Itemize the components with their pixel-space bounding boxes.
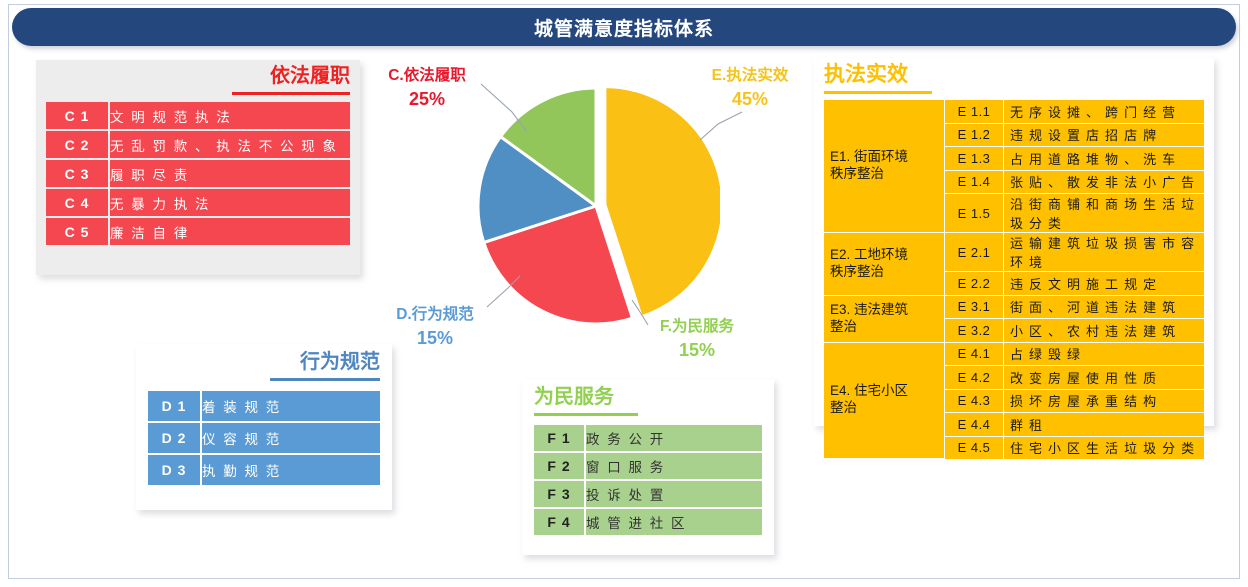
row-label: 违 反 文 明 施 工 规 定 (1004, 272, 1204, 296)
row-label: 小 区 、 农 村 违 法 建 筑 (1004, 319, 1204, 343)
table-row[interactable]: C 3 履 职 尽 责 (46, 160, 350, 189)
pie-label-c-percent: 25% (368, 87, 486, 111)
panel-d-heading: 行为规范 (270, 352, 380, 376)
row-label: 张 贴 、 散 发 非 法 小 广 告 (1004, 171, 1204, 195)
table-row[interactable]: E2. 工地环境 秩序整治 E 2.1 运 输 建 筑 垃 圾 损 害 市 容 … (824, 233, 1204, 272)
row-code: E 4.4 (945, 413, 1004, 437)
panel-f-heading: 为民服务 (534, 387, 638, 411)
panel-f-heading-rule (534, 413, 638, 416)
row-code: F 1 (534, 425, 586, 453)
row-code: E 3.2 (945, 319, 1004, 343)
row-code: E 4.1 (945, 343, 1004, 367)
row-label: 政 务 公 开 (586, 425, 762, 453)
row-label: 沿 街 商 铺 和 商 场 生 活 垃 圾 分 类 (1004, 194, 1204, 233)
row-code: E 1.4 (945, 171, 1004, 195)
row-label: 损 坏 房 屋 承 重 结 构 (1004, 390, 1204, 414)
pie-label-e: E.执法实效 45% (690, 66, 810, 111)
row-code: D 3 (148, 455, 202, 485)
panel-e-heading-rule (824, 91, 932, 94)
group-title-line1: E3. 违法建筑 (830, 302, 944, 319)
row-code: E 4.5 (945, 437, 1004, 460)
pie-label-e-name: E.执法实效 (712, 67, 789, 84)
table-row[interactable]: F 4 城 管 进 社 区 (534, 509, 762, 535)
panel-d-heading-rule (270, 378, 380, 381)
panel-f-header: 为民服务 (534, 387, 638, 416)
table-row[interactable]: F 2 窗 口 服 务 (534, 453, 762, 481)
row-code: E 1.1 (945, 100, 1004, 124)
table-row[interactable]: E3. 违法建筑 整治 E 3.1 街 面 、 河 道 违 法 建 筑 (824, 296, 1204, 320)
pie-label-e-percent: 45% (690, 87, 810, 111)
group-label-e1: E1. 街面环境 秩序整治 (824, 100, 945, 233)
panel-lawful-performance: 依法履职 C 1 文 明 规 范 执 法 C 2 无 乱 罚 款 、 执 法 不… (36, 60, 360, 275)
panel-c-heading: 依法履职 (232, 66, 350, 90)
row-label: 违 规 设 置 店 招 店 牌 (1004, 124, 1204, 148)
row-code: D 2 (148, 423, 202, 455)
table-f: F 1 政 务 公 开 F 2 窗 口 服 务 F 3 投 诉 处 置 F 4 … (534, 425, 762, 535)
pie-label-f: F.为民服务 15% (638, 317, 756, 362)
row-label: 住 宅 小 区 生 活 垃 圾 分 类 (1004, 437, 1204, 460)
pie-chart (472, 82, 720, 330)
row-label: 无 乱 罚 款 、 执 法 不 公 现 象 (110, 131, 350, 160)
group-title-line2: 整治 (830, 319, 944, 336)
pie-label-d-percent: 15% (376, 326, 494, 350)
row-code: E 4.2 (945, 366, 1004, 390)
row-code: E 1.5 (945, 194, 1004, 233)
row-code: E 2.2 (945, 272, 1004, 296)
row-label: 街 面 、 河 道 违 法 建 筑 (1004, 296, 1204, 320)
row-label: 改 变 房 屋 使 用 性 质 (1004, 366, 1204, 390)
group-label-e4: E4. 住宅小区 整治 (824, 343, 945, 460)
table-row[interactable]: E1. 街面环境 秩序整治 E 1.1 无 序 设 摊 、 跨 门 经 营 (824, 100, 1204, 124)
table-row[interactable]: D 2 仪 容 规 范 (148, 423, 380, 455)
row-label: 廉 洁 自 律 (110, 218, 350, 245)
row-label: 占 绿 毁 绿 (1004, 343, 1204, 367)
row-label: 群 租 (1004, 413, 1204, 437)
group-label-e2: E2. 工地环境 秩序整治 (824, 233, 945, 296)
row-code: E 2.1 (945, 233, 1004, 272)
group-title-line2: 秩序整治 (830, 166, 944, 183)
group-label-e3: E3. 违法建筑 整治 (824, 296, 945, 343)
page-title: 城管满意度指标体系 (534, 14, 714, 41)
row-code: C 2 (46, 131, 110, 160)
row-label: 运 输 建 筑 垃 圾 损 害 市 容 环 境 (1004, 233, 1204, 272)
row-code: C 4 (46, 189, 110, 218)
row-code: D 1 (148, 391, 202, 423)
row-label: 投 诉 处 置 (586, 481, 762, 509)
pie-label-c-name: C.依法履职 (388, 67, 466, 84)
row-code: F 3 (534, 481, 586, 509)
row-label: 无 暴 力 执 法 (110, 189, 350, 218)
table-row[interactable]: C 2 无 乱 罚 款 、 执 法 不 公 现 象 (46, 131, 350, 160)
pie-label-d-name: D.行为规范 (396, 306, 474, 323)
panel-e-header: 执法实效 (824, 64, 932, 94)
group-title-line1: E2. 工地环境 (830, 247, 944, 264)
row-label: 城 管 进 社 区 (586, 509, 762, 535)
row-code: C 3 (46, 160, 110, 189)
table-d: D 1 着 装 规 范 D 2 仪 容 规 范 D 3 执 勤 规 范 (148, 391, 380, 485)
table-row[interactable]: C 4 无 暴 力 执 法 (46, 189, 350, 218)
row-code: E 4.3 (945, 390, 1004, 414)
row-label: 着 装 规 范 (202, 391, 380, 423)
group-title-line1: E4. 住宅小区 (830, 383, 944, 400)
pie-label-f-name: F.为民服务 (660, 318, 734, 335)
row-code: C 5 (46, 218, 110, 245)
panel-d-header: 行为规范 (270, 352, 380, 381)
panel-c-header: 依法履职 (232, 66, 350, 95)
table-row[interactable]: D 1 着 装 规 范 (148, 391, 380, 423)
table-row[interactable]: D 3 执 勤 规 范 (148, 455, 380, 485)
row-label: 履 职 尽 责 (110, 160, 350, 189)
panel-e-heading: 执法实效 (824, 64, 932, 89)
pie-label-c: C.依法履职 25% (368, 66, 486, 111)
table-row[interactable]: F 1 政 务 公 开 (534, 425, 762, 453)
table-row[interactable]: C 1 文 明 规 范 执 法 (46, 102, 350, 131)
row-label: 仪 容 规 范 (202, 423, 380, 455)
panel-enforcement-effectiveness: 执法实效 E1. 街面环境 秩序整治 E 1.1 无 序 设 摊 、 跨 门 经… (814, 58, 1214, 426)
row-code: E 3.1 (945, 296, 1004, 320)
row-code: C 1 (46, 102, 110, 131)
row-code: F 2 (534, 453, 586, 481)
table-e: E1. 街面环境 秩序整治 E 1.1 无 序 设 摊 、 跨 门 经 营 E … (824, 100, 1204, 459)
table-row[interactable]: F 3 投 诉 处 置 (534, 481, 762, 509)
table-c: C 1 文 明 规 范 执 法 C 2 无 乱 罚 款 、 执 法 不 公 现 … (46, 102, 350, 245)
page-title-banner: 城管满意度指标体系 (12, 8, 1236, 46)
group-title-line2: 秩序整治 (830, 264, 944, 281)
row-label: 文 明 规 范 执 法 (110, 102, 350, 131)
row-code: E 1.3 (945, 147, 1004, 171)
panel-behavior-norms: 行为规范 D 1 着 装 规 范 D 2 仪 容 规 范 D 3 执 勤 规 范 (136, 344, 392, 510)
table-row[interactable]: C 5 廉 洁 自 律 (46, 218, 350, 245)
row-code: E 1.2 (945, 124, 1004, 148)
pie-label-f-percent: 15% (638, 338, 756, 362)
group-title-line1: E1. 街面环境 (830, 149, 944, 166)
pie-label-d: D.行为规范 15% (376, 305, 494, 350)
row-label: 占 用 道 路 堆 物 、 洗 车 (1004, 147, 1204, 171)
group-title-line2: 整治 (830, 400, 944, 417)
row-label: 执 勤 规 范 (202, 455, 380, 485)
panel-public-service: 为民服务 F 1 政 务 公 开 F 2 窗 口 服 务 F 3 投 诉 处 置… (522, 379, 774, 555)
row-code: F 4 (534, 509, 586, 535)
panel-c-heading-rule (232, 92, 350, 95)
pie-chart-svg (472, 82, 720, 330)
row-label: 无 序 设 摊 、 跨 门 经 营 (1004, 100, 1204, 124)
row-label: 窗 口 服 务 (586, 453, 762, 481)
table-row[interactable]: E4. 住宅小区 整治 E 4.1 占 绿 毁 绿 (824, 343, 1204, 367)
